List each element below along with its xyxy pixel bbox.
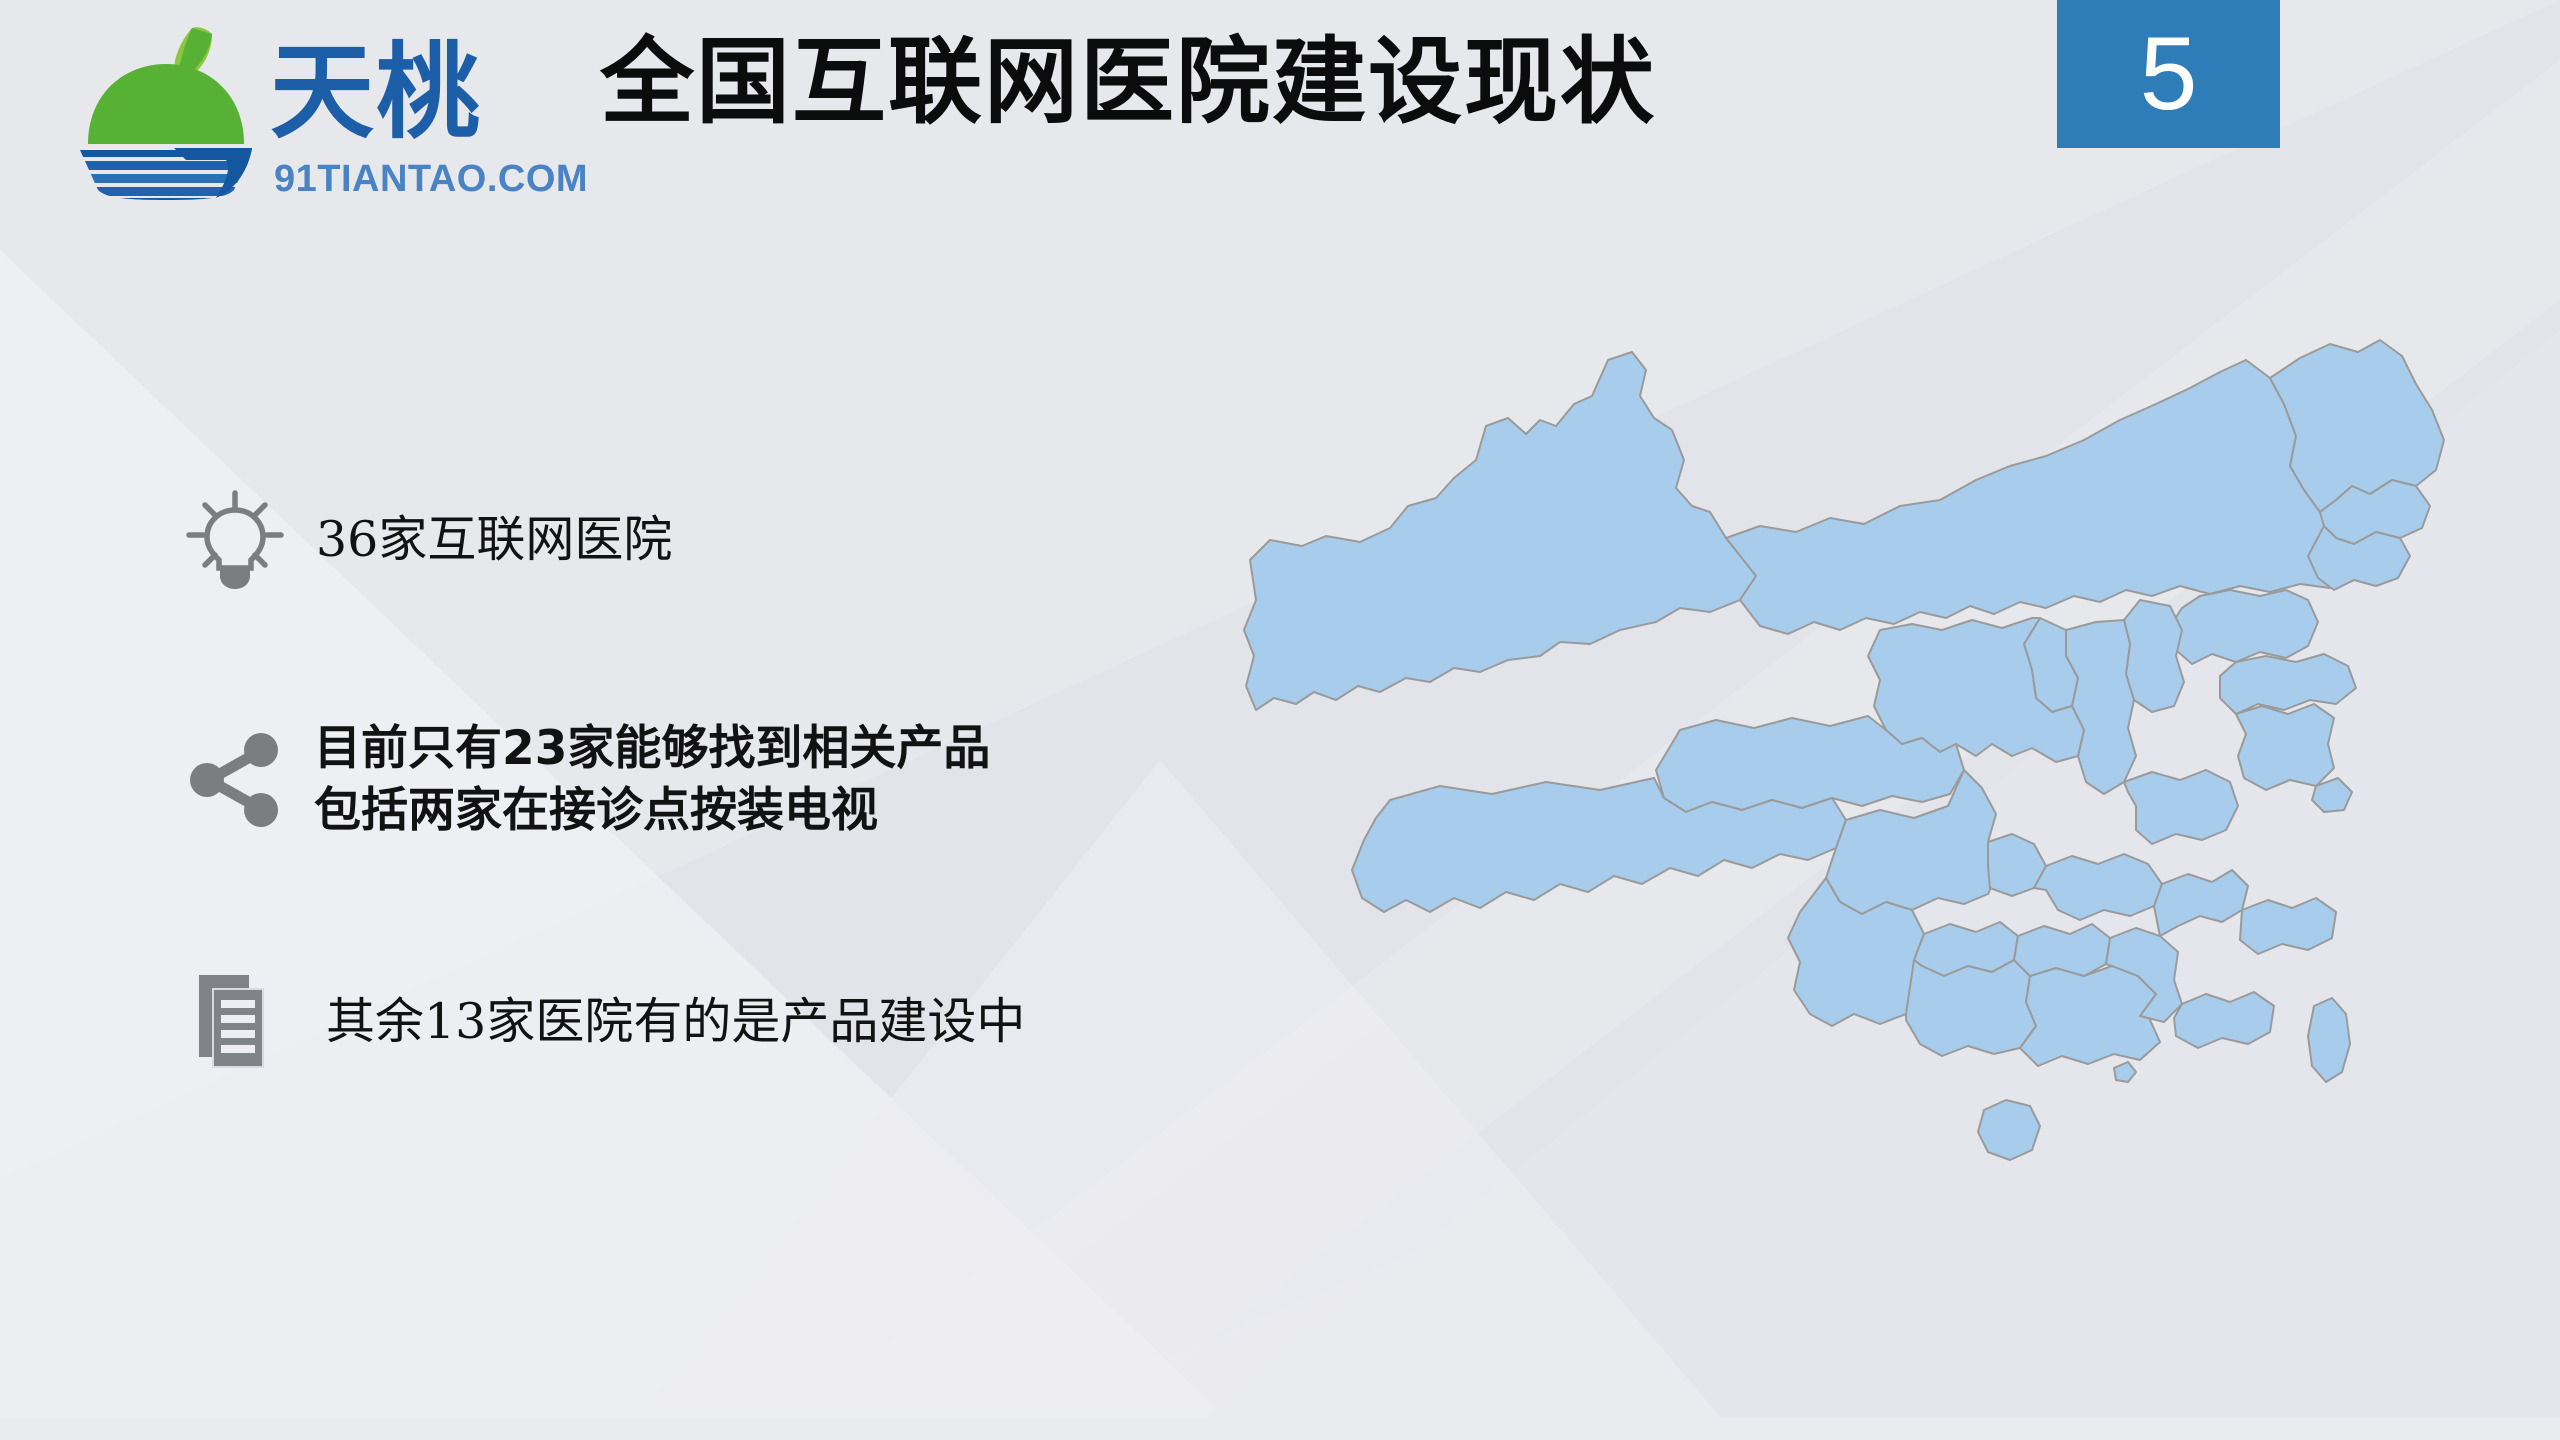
list-item: 其余13家医院有的是产品建设中 <box>170 962 1290 1082</box>
logo-wordmark: 天桃 <box>270 40 482 144</box>
list-item: 目前只有23家能够找到相关产品 包括两家在接诊点按装电视 <box>170 718 1290 842</box>
brand-logo: 天桃 91TIANTAO.COM <box>58 18 518 203</box>
slide-canvas: 天桃 91TIANTAO.COM 全国互联网医院建设现状 5 <box>0 0 2560 1440</box>
list-item-text: 36家互联网医院 <box>316 508 672 573</box>
logo-char-tian: 天 <box>270 31 376 153</box>
slide-header: 天桃 91TIANTAO.COM 全国互联网医院建设现状 5 <box>0 0 2560 230</box>
list-item-text: 目前只有23家能够找到相关产品 包括两家在接诊点按装电视 <box>314 718 990 842</box>
share-icon <box>170 728 300 832</box>
logo-char-tao: 桃 <box>376 31 482 153</box>
list-item-text: 其余13家医院有的是产品建设中 <box>326 990 1025 1055</box>
logo-url: 91TIANTAO.COM <box>274 158 588 201</box>
list-item: 36家互联网医院 <box>170 480 1290 600</box>
list-item-line: 包括两家在接诊点按装电视 <box>314 780 990 842</box>
logo-dome-icon <box>88 64 244 144</box>
list-item-line: 36家互联网医院 <box>316 508 672 573</box>
logo-mark-icon <box>66 22 266 200</box>
lightbulb-icon <box>170 488 300 592</box>
page-number-badge: 5 <box>2057 0 2280 148</box>
list-item-line: 其余13家医院有的是产品建设中 <box>326 990 1025 1055</box>
page-title: 全国互联网医院建设现状 <box>600 24 1656 142</box>
page-number: 5 <box>2057 22 2280 126</box>
list-item-line: 目前只有23家能够找到相关产品 <box>314 718 990 780</box>
china-map <box>1240 300 2470 1360</box>
documents-icon <box>170 967 300 1077</box>
bullet-list: 36家互联网医院 目前只有23家能够找到相关产品 包括两家在接诊点按装电视 <box>170 480 1290 1082</box>
